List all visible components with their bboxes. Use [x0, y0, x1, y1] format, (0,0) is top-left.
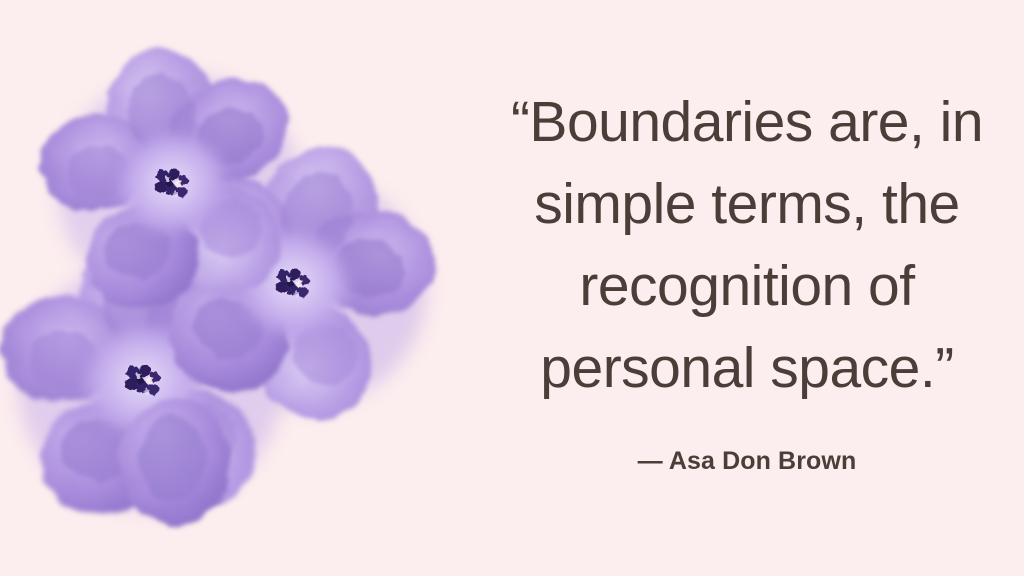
quote-block: “Boundaries are, in simple terms, the re… — [470, 0, 1024, 576]
quote-attribution: — Asa Don Brown — [638, 447, 857, 476]
quote-card: “Boundaries are, in simple terms, the re… — [0, 0, 1024, 576]
quote-text: “Boundaries are, in simple terms, the re… — [485, 81, 1009, 409]
watercolor-violet-flower-cluster — [0, 0, 470, 576]
